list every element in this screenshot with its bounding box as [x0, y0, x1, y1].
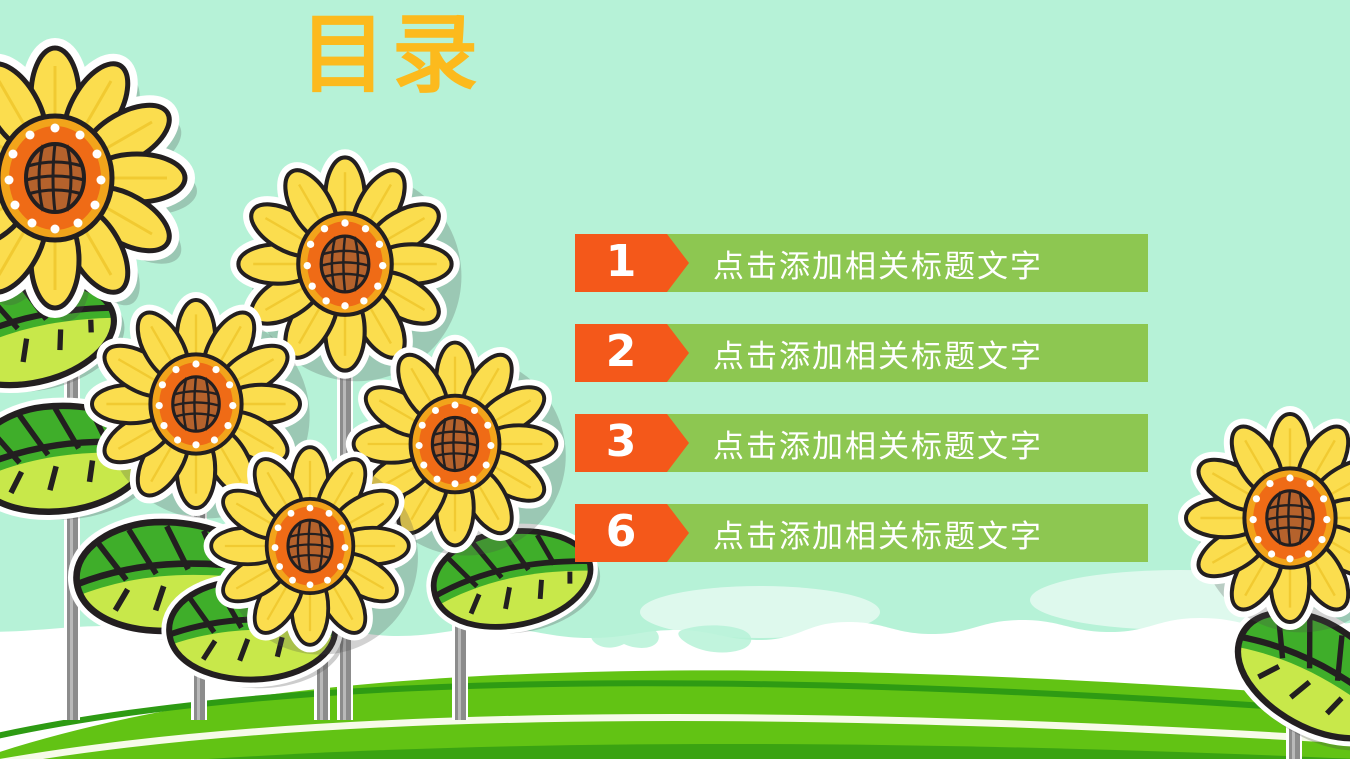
list-item[interactable]: 3 点击添加相关标题文字	[575, 414, 1150, 472]
list-item[interactable]: 2 点击添加相关标题文字	[575, 324, 1150, 382]
list-item[interactable]: 6 点击添加相关标题文字	[575, 504, 1150, 562]
toc-label[interactable]: 点击添加相关标题文字	[713, 414, 1142, 472]
contents-list: 1 点击添加相关标题文字 2 点击添加相关标题文字 3 点击添加相关标题文字 6…	[575, 234, 1150, 594]
slide-canvas: 目录 1 点击添加相关标题文字 2 点击添加相关标题文字 3 点击添加相关标题文…	[0, 0, 1350, 759]
toc-number: 2	[575, 324, 667, 382]
toc-label[interactable]: 点击添加相关标题文字	[713, 324, 1142, 382]
list-item[interactable]: 1 点击添加相关标题文字	[575, 234, 1150, 292]
toc-number: 1	[575, 234, 667, 292]
toc-label[interactable]: 点击添加相关标题文字	[713, 504, 1142, 562]
toc-number: 3	[575, 414, 667, 472]
page-title: 目录	[300, 12, 484, 98]
toc-number: 6	[575, 504, 667, 562]
toc-label[interactable]: 点击添加相关标题文字	[713, 234, 1142, 292]
